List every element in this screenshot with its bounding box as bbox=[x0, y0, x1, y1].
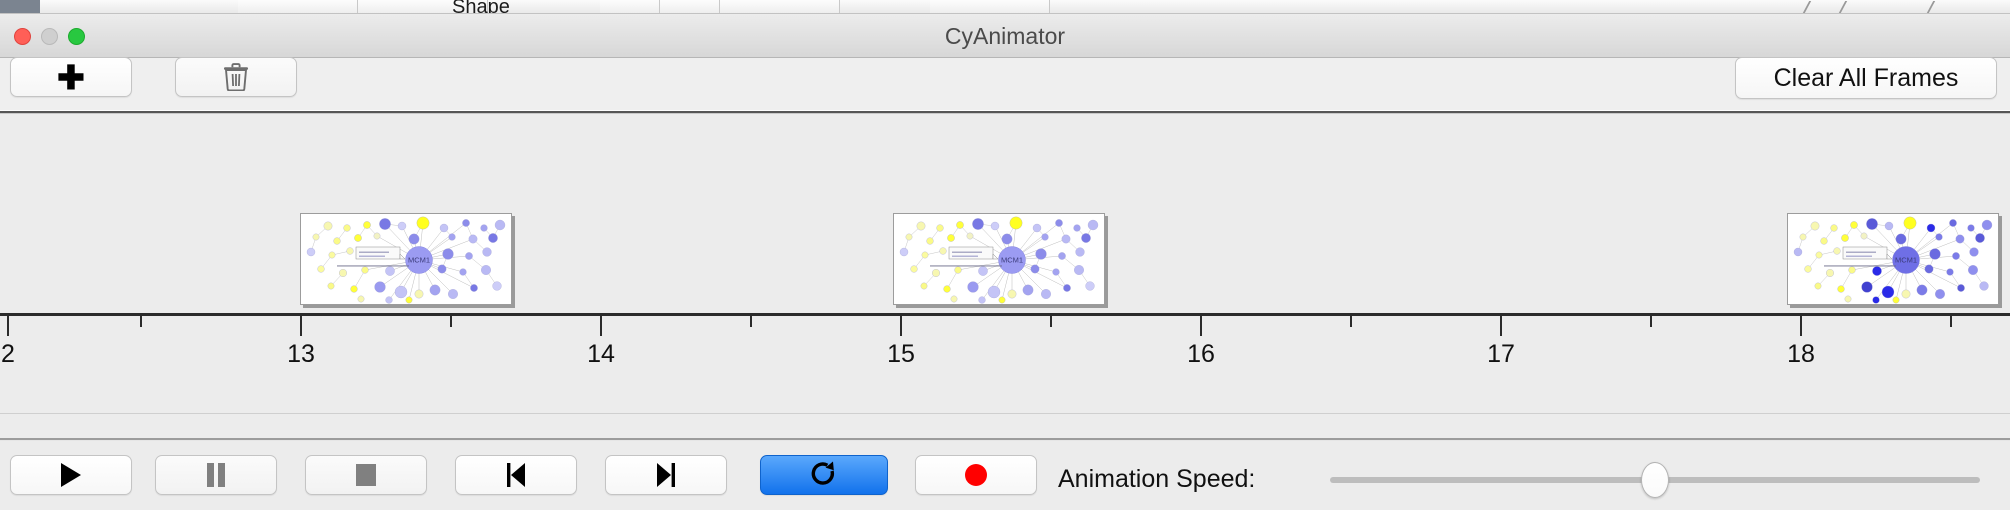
network-node bbox=[951, 296, 957, 302]
loop-button[interactable] bbox=[760, 455, 888, 495]
plus-icon: ✚ bbox=[57, 61, 85, 94]
network-node bbox=[347, 248, 354, 255]
timeline-frame-thumbnail[interactable]: MCM1 bbox=[300, 213, 512, 305]
network-node bbox=[1935, 289, 1945, 299]
network-node bbox=[1970, 248, 1979, 257]
axis-tick-label: 14 bbox=[587, 340, 615, 369]
network-node bbox=[972, 218, 983, 229]
network-node bbox=[1862, 282, 1873, 293]
axis-tick-major bbox=[1500, 316, 1502, 336]
network-node bbox=[1849, 267, 1856, 274]
network-node bbox=[462, 219, 469, 226]
network-node bbox=[1815, 283, 1821, 289]
skip-end-button[interactable] bbox=[605, 455, 727, 495]
network-node bbox=[967, 233, 973, 239]
network-node bbox=[493, 282, 502, 291]
network-node bbox=[1076, 248, 1085, 257]
network-node bbox=[1800, 234, 1806, 240]
network-thumbnail-graphic: MCM1 bbox=[301, 214, 512, 305]
cyanimator-window: Shape CyAnimator ✚ Clear All Frames bbox=[0, 0, 2010, 510]
network-node bbox=[430, 285, 440, 295]
network-node bbox=[488, 233, 497, 242]
network-node bbox=[417, 217, 429, 229]
axis-tick-label: 17 bbox=[1487, 340, 1515, 369]
axis-tick-major bbox=[900, 316, 902, 336]
network-node bbox=[1826, 269, 1834, 277]
delete-frame-button[interactable] bbox=[175, 57, 297, 97]
playback-controls-bar: Animation Speed: bbox=[0, 441, 2010, 510]
timeline-frame-thumbnail[interactable]: MCM1 bbox=[1787, 213, 1999, 305]
network-node bbox=[379, 218, 390, 229]
play-button[interactable] bbox=[10, 455, 132, 495]
background-cell bbox=[238, 0, 358, 14]
network-node bbox=[460, 269, 467, 276]
axis-tick-major bbox=[1200, 316, 1202, 336]
network-node bbox=[900, 248, 908, 256]
network-node bbox=[1882, 286, 1894, 298]
network-node bbox=[398, 222, 406, 230]
background-cell bbox=[660, 0, 720, 14]
network-node bbox=[1042, 234, 1049, 241]
network-node bbox=[917, 222, 925, 230]
network-node bbox=[1058, 252, 1065, 259]
network-node bbox=[481, 225, 488, 232]
network-node bbox=[1980, 282, 1989, 291]
network-node bbox=[1885, 222, 1893, 230]
network-node bbox=[324, 222, 332, 230]
network-node bbox=[1975, 233, 1984, 242]
clear-all-frames-label: Clear All Frames bbox=[1774, 64, 1959, 93]
network-node bbox=[944, 286, 951, 293]
axis-tick-minor bbox=[750, 316, 752, 327]
axis-tick-minor bbox=[450, 316, 452, 327]
pause-button[interactable] bbox=[155, 455, 277, 495]
network-node bbox=[1947, 269, 1954, 276]
network-node bbox=[1086, 282, 1095, 291]
toolbar bbox=[0, 58, 2010, 112]
network-hub-label: MCM1 bbox=[1895, 256, 1917, 265]
network-thumbnail-graphic: MCM1 bbox=[894, 214, 1105, 305]
timeline-frame-thumbnail[interactable]: MCM1 bbox=[893, 213, 1105, 305]
background-tick bbox=[1839, 1, 1847, 13]
network-node bbox=[448, 289, 458, 299]
network-node bbox=[1055, 219, 1062, 226]
axis-tick-minor bbox=[1050, 316, 1052, 327]
title-bar: CyAnimator bbox=[0, 14, 2010, 58]
pause-icon bbox=[205, 462, 227, 488]
network-node bbox=[1834, 248, 1841, 255]
network-node bbox=[334, 238, 341, 245]
network-node bbox=[386, 297, 393, 304]
network-node bbox=[374, 233, 380, 239]
clear-all-frames-button[interactable]: Clear All Frames bbox=[1735, 57, 1997, 99]
network-node bbox=[1831, 225, 1838, 232]
network-node bbox=[363, 221, 370, 228]
network-node bbox=[344, 225, 351, 232]
background-tick bbox=[1927, 1, 1935, 13]
network-node bbox=[956, 221, 963, 228]
background-window-strip: Shape bbox=[0, 0, 2010, 14]
axis-tick-label: 16 bbox=[1187, 340, 1215, 369]
animation-speed-slider[interactable] bbox=[1330, 477, 1980, 483]
axis-tick-label: 18 bbox=[1787, 340, 1815, 369]
background-window-dark-cell bbox=[0, 0, 40, 14]
network-node bbox=[354, 234, 361, 241]
network-node bbox=[395, 286, 407, 298]
network-node bbox=[375, 282, 386, 293]
network-hub-label: MCM1 bbox=[408, 256, 430, 265]
skip-start-button[interactable] bbox=[455, 455, 577, 495]
network-node bbox=[1023, 285, 1033, 295]
network-node bbox=[955, 267, 962, 274]
network-node bbox=[1904, 217, 1916, 229]
network-node bbox=[1968, 265, 1978, 275]
axis-tick-label: 13 bbox=[287, 340, 315, 369]
network-node bbox=[1031, 265, 1039, 273]
network-node bbox=[937, 225, 944, 232]
axis-tick-minor bbox=[1350, 316, 1352, 327]
network-node bbox=[406, 297, 412, 303]
network-node bbox=[1872, 266, 1881, 275]
network-node bbox=[978, 266, 987, 275]
network-node bbox=[1036, 249, 1047, 260]
network-node bbox=[1074, 265, 1084, 275]
network-node bbox=[1861, 233, 1867, 239]
trash-icon bbox=[223, 63, 249, 91]
network-node bbox=[988, 286, 1000, 298]
network-node bbox=[968, 282, 979, 293]
slider-thumb[interactable] bbox=[1641, 462, 1669, 498]
axis-tick-major bbox=[600, 316, 602, 336]
axis-tick-major bbox=[7, 316, 9, 336]
network-node bbox=[1930, 249, 1941, 260]
network-node bbox=[1902, 290, 1910, 298]
network-node bbox=[1968, 225, 1975, 232]
skip-forward-icon bbox=[654, 462, 678, 488]
background-tick bbox=[1803, 1, 1811, 13]
axis-tick-label: 15 bbox=[887, 340, 915, 369]
network-node bbox=[1063, 284, 1070, 291]
network-node bbox=[979, 297, 986, 304]
frames-track[interactable]: MCM1MCM1MCM1 bbox=[0, 114, 2010, 314]
record-button[interactable] bbox=[915, 455, 1037, 495]
network-node bbox=[362, 267, 369, 274]
network-node bbox=[1982, 220, 1992, 230]
network-node bbox=[449, 234, 456, 241]
stop-button[interactable] bbox=[305, 455, 427, 495]
network-node bbox=[415, 290, 423, 298]
timeline-panel: MCM1MCM1MCM1 2131415161718 Seconds bbox=[0, 114, 2010, 414]
loop-icon bbox=[811, 461, 837, 489]
network-node bbox=[339, 269, 347, 277]
network-node bbox=[495, 220, 505, 230]
network-node bbox=[1816, 252, 1822, 258]
skip-back-icon bbox=[504, 462, 528, 488]
background-cell bbox=[600, 0, 660, 14]
axis-tick-major bbox=[1800, 316, 1802, 336]
network-hub-label: MCM1 bbox=[1001, 256, 1023, 265]
network-node bbox=[351, 286, 358, 293]
network-node bbox=[1917, 285, 1927, 295]
network-node bbox=[1053, 269, 1060, 276]
network-node bbox=[1811, 222, 1819, 230]
network-node bbox=[470, 284, 477, 291]
network-node bbox=[921, 283, 927, 289]
network-node bbox=[438, 265, 446, 273]
network-node bbox=[1008, 290, 1016, 298]
network-node bbox=[313, 234, 319, 240]
axis-tick-minor bbox=[1650, 316, 1652, 327]
network-node bbox=[922, 252, 928, 258]
record-icon bbox=[963, 462, 989, 488]
network-node bbox=[409, 234, 419, 244]
network-node bbox=[1956, 235, 1964, 243]
network-node bbox=[1088, 220, 1098, 230]
network-node bbox=[1936, 234, 1943, 241]
network-node bbox=[1838, 286, 1845, 293]
network-node bbox=[932, 269, 940, 277]
network-node bbox=[1850, 221, 1857, 228]
axis-tick-major bbox=[300, 316, 302, 336]
network-node bbox=[1805, 266, 1812, 273]
network-node bbox=[1821, 238, 1828, 245]
network-node bbox=[1074, 225, 1081, 232]
network-node bbox=[307, 248, 315, 256]
network-node bbox=[911, 266, 918, 273]
network-node bbox=[1952, 252, 1959, 259]
network-node bbox=[1896, 234, 1906, 244]
network-node bbox=[465, 252, 472, 259]
network-node bbox=[1893, 297, 1899, 303]
network-node bbox=[1927, 224, 1935, 232]
network-node bbox=[991, 222, 999, 230]
network-node bbox=[358, 296, 364, 302]
network-node bbox=[481, 265, 491, 275]
axis-tick-label: 2 bbox=[1, 340, 15, 369]
network-node bbox=[469, 235, 477, 243]
network-node bbox=[329, 252, 335, 258]
network-node bbox=[1062, 235, 1070, 243]
network-node bbox=[947, 234, 954, 241]
network-node bbox=[1925, 265, 1933, 273]
axis-tick-minor bbox=[140, 316, 142, 327]
background-cell bbox=[930, 0, 1050, 14]
network-node bbox=[1002, 234, 1012, 244]
network-node bbox=[906, 234, 912, 240]
network-node bbox=[483, 248, 492, 257]
axis-tick-minor bbox=[1950, 316, 1952, 327]
add-frame-button[interactable]: ✚ bbox=[10, 57, 132, 97]
play-icon bbox=[59, 462, 83, 488]
network-caption-text bbox=[1824, 265, 1896, 267]
stop-icon bbox=[354, 462, 378, 488]
network-node bbox=[443, 249, 454, 260]
network-node bbox=[1866, 218, 1877, 229]
background-cell bbox=[720, 0, 840, 14]
network-node bbox=[1841, 234, 1848, 241]
network-node bbox=[1957, 284, 1964, 291]
network-thumbnail-graphic: MCM1 bbox=[1788, 214, 1999, 305]
network-node bbox=[385, 266, 394, 275]
animation-speed-label: Animation Speed: bbox=[1058, 465, 1255, 494]
network-node bbox=[927, 238, 934, 245]
network-node bbox=[940, 248, 947, 255]
network-caption-text bbox=[930, 265, 1002, 267]
network-caption-text bbox=[337, 265, 409, 267]
network-node bbox=[1041, 289, 1051, 299]
network-node bbox=[318, 266, 325, 273]
network-node bbox=[1081, 233, 1090, 242]
network-node bbox=[999, 297, 1005, 303]
network-node bbox=[1794, 248, 1802, 256]
network-node bbox=[1949, 219, 1956, 226]
network-node bbox=[1873, 297, 1880, 304]
window-title: CyAnimator bbox=[0, 14, 2010, 58]
background-window-label: Shape bbox=[452, 0, 510, 14]
network-node bbox=[440, 224, 448, 232]
network-node bbox=[328, 283, 334, 289]
network-node bbox=[1033, 224, 1041, 232]
network-node bbox=[1010, 217, 1022, 229]
network-node bbox=[1845, 296, 1851, 302]
